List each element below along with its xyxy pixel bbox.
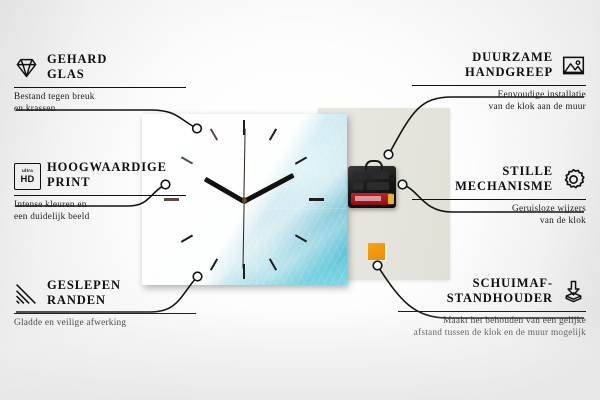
mechanism-hanger-hook: [365, 160, 383, 170]
desc-line-1: Intense kleuren en: [14, 200, 87, 210]
title-line-1: DUURZAME: [472, 50, 553, 64]
desc-line-2: van de klok: [540, 216, 586, 226]
feature-duurzame-handgreep-title: DUURZAME HANDGREEP: [465, 50, 553, 80]
picture-frame-icon: [561, 53, 586, 78]
title-line-1: GESLEPEN: [47, 278, 121, 292]
feature-divider: [14, 87, 186, 88]
bevelled-edges-icon: [14, 281, 39, 306]
feature-duurzame-handgreep[interactable]: DUURZAME HANDGREEP Eenvoudige installati…: [412, 50, 586, 113]
feature-gehard-glas-desc: Bestand tegen breuk en krassen: [14, 92, 186, 115]
feature-gehard-glas-title: GEHARD GLAS: [47, 52, 107, 82]
feature-schuimafstandhouder-head: SCHUIMAF- STANDHOUDER: [398, 276, 586, 306]
mechanism-slot-c: [353, 182, 363, 190]
feature-duurzame-handgreep-desc: Eenvoudige installatie van de klok aan d…: [412, 90, 586, 113]
title-line-1: SCHUIMAF-: [473, 276, 553, 290]
diamond-icon: [14, 55, 39, 80]
feature-divider: [398, 311, 586, 312]
ultra-hd-icon: ultra HD: [14, 163, 39, 188]
feature-schuimafstandhouder-title: SCHUIMAF- STANDHOUDER: [447, 276, 553, 306]
feature-divider: [14, 313, 196, 314]
clock-pivot: [242, 198, 247, 203]
aa-battery: [351, 193, 393, 205]
title-line-2: RANDEN: [47, 293, 106, 307]
mechanism-slot-a: [353, 172, 367, 179]
battery-label: [355, 196, 381, 201]
battery-terminal: [388, 194, 394, 204]
feature-gehard-glas-head: GEHARD GLAS: [14, 52, 186, 82]
title-line-2: HANDGREEP: [465, 65, 553, 79]
title-line-2: PRINT: [47, 175, 90, 189]
feature-gehard-glas[interactable]: GEHARD GLAS Bestand tegen breuk en krass…: [14, 52, 186, 115]
clock-movement-mechanism: [348, 166, 396, 208]
desc-line-1: Eenvoudige installatie: [498, 90, 586, 100]
desc-line-2: een duidelijk beeld: [14, 212, 90, 222]
feature-geslepen-randen-desc: Gladde en veilige afwerking: [14, 318, 196, 329]
feature-stille-mechanisme-desc: Geruisloze wijzers van de klok: [412, 204, 586, 227]
title-line-2: STANDHOUDER: [447, 291, 553, 305]
feature-stille-mechanisme-title: STILLE MECHANISME: [455, 164, 553, 194]
title-line-1: HOOGWAARDIGE: [47, 160, 167, 174]
feature-divider: [14, 195, 186, 196]
title-line-2: GLAS: [47, 67, 85, 81]
mechanism-slot-b: [371, 172, 389, 179]
feature-geslepen-randen[interactable]: GESLEPEN RANDEN Gladde en veilige afwerk…: [14, 278, 196, 330]
clock-tick-3: [309, 198, 324, 201]
desc-line-1: Bestand tegen breuk: [14, 92, 95, 102]
feature-divider: [412, 85, 586, 86]
title-line-1: GEHARD: [47, 52, 107, 66]
feature-hoogwaardige-print[interactable]: ultra HD HOOGWAARDIGE PRINT Intense kleu…: [14, 160, 186, 223]
feature-hoogwaardige-print-head: ultra HD HOOGWAARDIGE PRINT: [14, 160, 186, 190]
feature-geslepen-randen-head: GESLEPEN RANDEN: [14, 278, 196, 308]
desc-line-2: afstand tussen de klok en de muur mogeli…: [414, 328, 586, 338]
desc-line-2: en krassen: [14, 104, 55, 114]
feature-divider: [412, 199, 586, 200]
feature-schuimafstandhouder[interactable]: SCHUIMAF- STANDHOUDER Maakt het behouden…: [398, 276, 586, 339]
title-line-1: STILLE: [502, 164, 553, 178]
feature-duurzame-handgreep-head: DUURZAME HANDGREEP: [412, 50, 586, 80]
feature-stille-mechanisme[interactable]: STILLE MECHANISME Geruisloze wijzers van…: [412, 164, 586, 227]
desc-line-1: Gladde en veilige afwerking: [14, 318, 126, 328]
foam-spacer-block: [368, 243, 385, 260]
infographic-canvas: GEHARD GLAS Bestand tegen breuk en krass…: [0, 0, 600, 400]
feature-hoogwaardige-print-title: HOOGWAARDIGE PRINT: [47, 160, 167, 190]
down-arrow-spacer-icon: [561, 279, 586, 304]
feature-hoogwaardige-print-desc: Intense kleuren en een duidelijk beeld: [14, 200, 186, 223]
mechanism-slot-d: [367, 182, 389, 190]
desc-line-1: Maakt het behouden van een gelijke: [443, 316, 586, 326]
desc-line-2: van de klok aan de muur: [489, 102, 586, 112]
ultra-hd-icon-big-label: HD: [21, 174, 35, 183]
desc-line-1: Geruisloze wijzers: [512, 204, 586, 214]
feature-schuimafstandhouder-desc: Maakt het behouden van een gelijke afsta…: [398, 316, 586, 339]
feature-geslepen-randen-title: GESLEPEN RANDEN: [47, 278, 121, 308]
title-line-2: MECHANISME: [455, 179, 553, 193]
gear-icon: [561, 167, 586, 192]
feature-stille-mechanisme-head: STILLE MECHANISME: [412, 164, 586, 194]
